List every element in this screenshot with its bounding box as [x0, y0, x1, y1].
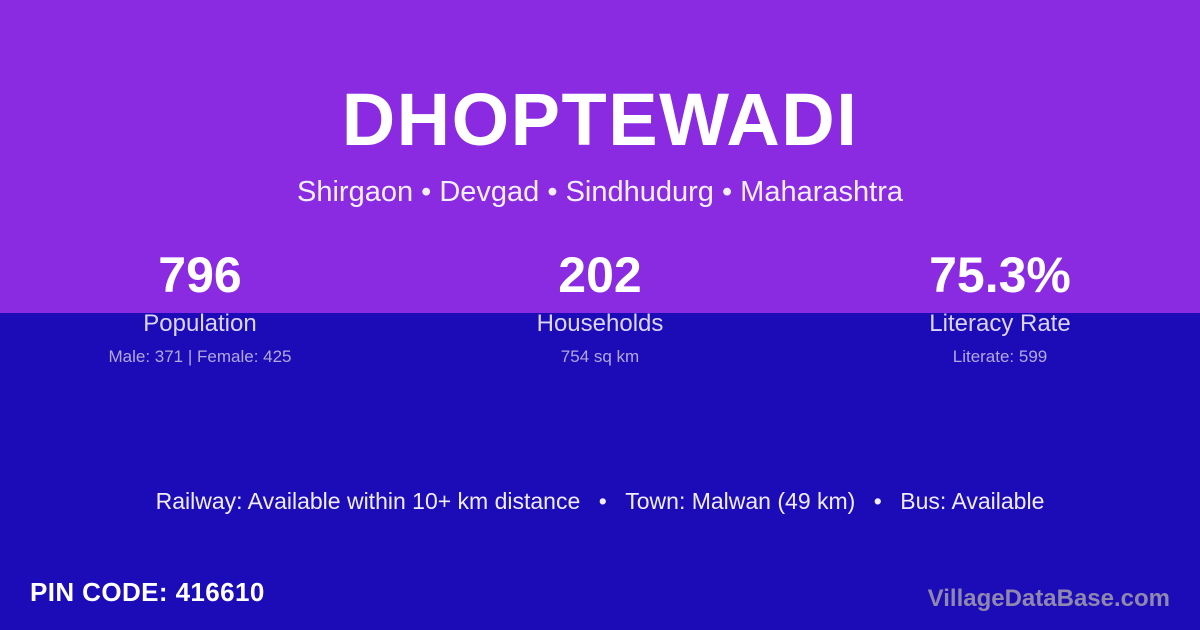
stat-value-population: 796 [0, 245, 400, 305]
stat-label-literacy-rate: Literacy Rate [800, 309, 1200, 338]
stat-population: 796 Population Male: 371 | Female: 425 [0, 245, 400, 367]
stat-sub-population: Male: 371 | Female: 425 [0, 346, 400, 367]
stat-literacy-rate: 75.3% Literacy Rate Literate: 599 [800, 245, 1200, 367]
breadcrumb: Shirgaon • Devgad • Sindhudurg • Maharas… [0, 175, 1200, 209]
stat-value-households: 202 [400, 245, 800, 305]
amenity-town: Town: Malwan (49 km) [625, 488, 855, 514]
footer: PIN CODE: 416610 VillageDataBase.com [0, 560, 1200, 630]
stat-label-households: Households [400, 309, 800, 338]
stat-sub-literacy-rate: Literate: 599 [800, 346, 1200, 367]
stat-households: 202 Households 754 sq km [400, 245, 800, 367]
bullet-separator-icon: • [585, 487, 621, 515]
bullet-separator-icon: • [860, 487, 896, 515]
village-info-card: DHOPTEWADI Shirgaon • Devgad • Sindhudur… [0, 0, 1200, 630]
stat-sub-households: 754 sq km [400, 346, 800, 367]
stats-row: 796 Population Male: 371 | Female: 425 2… [0, 245, 1200, 367]
title-block: DHOPTEWADI Shirgaon • Devgad • Sindhudur… [0, 78, 1200, 209]
brand-watermark: VillageDataBase.com [928, 584, 1170, 614]
stat-value-literacy-rate: 75.3% [800, 245, 1200, 305]
amenity-railway: Railway: Available within 10+ km distanc… [156, 488, 581, 514]
pin-code: PIN CODE: 416610 [30, 576, 265, 608]
amenity-bus: Bus: Available [900, 488, 1044, 514]
amenities-row: Railway: Available within 10+ km distanc… [0, 487, 1200, 515]
page-title: DHOPTEWADI [0, 78, 1200, 162]
stat-label-population: Population [0, 309, 400, 338]
